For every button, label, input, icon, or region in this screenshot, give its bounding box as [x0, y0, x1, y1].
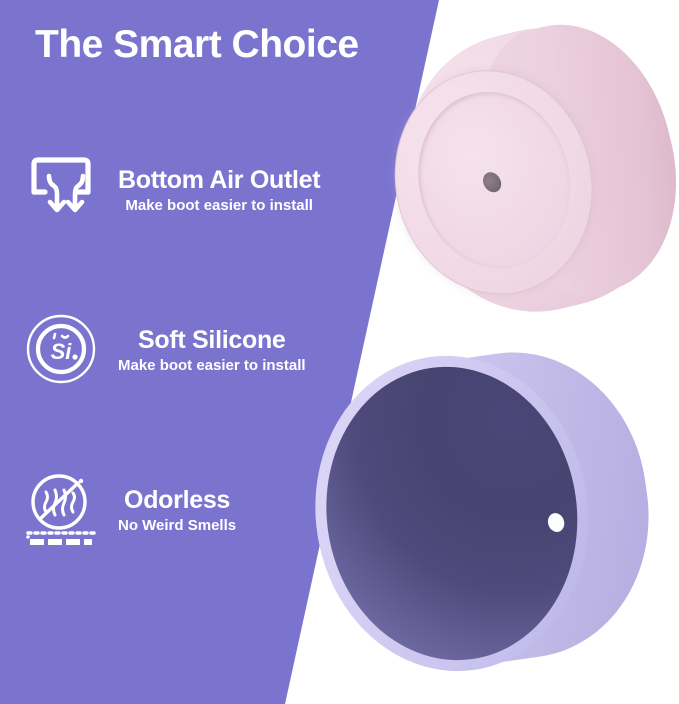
feature-text-bottom-air-outlet: Bottom Air Outlet Make boot easier to in…	[118, 166, 320, 213]
product-feature-infographic: The Smart Choice Bottom Air Outlet Make …	[0, 0, 679, 704]
feature-subtitle: Make boot easier to install	[118, 358, 306, 373]
feature-subtitle: Make boot easier to install	[125, 198, 313, 213]
page-title: The Smart Choice	[35, 24, 425, 67]
feature-title: Odorless	[124, 488, 230, 513]
feature-row-soft-silicone: Si Soft Silicone Make boot easier to ins…	[18, 306, 418, 392]
silicone-symbol-text: Si	[51, 339, 73, 364]
feature-text-soft-silicone: Soft Silicone Make boot easier to instal…	[118, 326, 306, 373]
feature-text-odorless: Odorless No Weird Smells	[118, 486, 236, 533]
bottom-air-outlet-icon	[18, 146, 104, 232]
feature-title: Bottom Air Outlet	[118, 168, 320, 193]
feature-row-bottom-air-outlet: Bottom Air Outlet Make boot easier to in…	[18, 146, 418, 232]
feature-subtitle: No Weird Smells	[118, 518, 236, 533]
feature-title: Soft Silicone	[138, 328, 286, 353]
odorless-icon	[18, 466, 104, 552]
soft-silicone-icon: Si	[18, 306, 104, 392]
feature-row-odorless: Odorless No Weird Smells	[18, 466, 418, 552]
